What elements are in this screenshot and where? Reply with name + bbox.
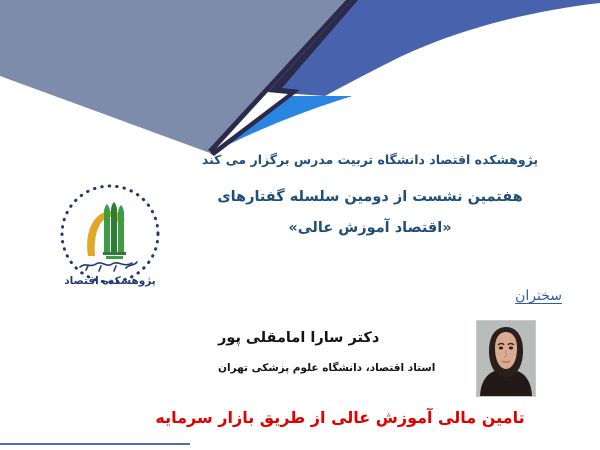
slate-polygon — [0, 0, 352, 153]
royal-blue-polygon — [268, 0, 600, 96]
headline-block: پژوهشکده اقتصاد دانشگاه تربیت مدرس برگزا… — [160, 152, 580, 239]
institute-logo: پژوهشکده اقتصاد — [44, 182, 176, 292]
bright-blue-sliver — [210, 96, 352, 153]
bottom-accent-rule — [0, 443, 190, 445]
logo-university-script — [80, 262, 137, 271]
event-poster: پژوهشکده اقتصاد پژوهشکده اقتصاد دانشگاه … — [0, 0, 600, 450]
speaker-name: دکتر سارا امامقلی پور — [218, 330, 528, 346]
navy-edge-line — [208, 0, 352, 153]
logo-institute-label: پژوهشکده اقتصاد — [64, 275, 155, 287]
organizer-line: پژوهشکده اقتصاد دانشگاه تربیت مدرس برگزا… — [160, 152, 580, 168]
decorative-header-banner — [0, 0, 600, 165]
session-line: هفتمین نشست از دومین سلسله گفتارهای — [160, 188, 580, 208]
speaker-affiliation: استاد اقتصاد، دانشگاه علوم پزشکی تهران — [218, 362, 528, 374]
speaker-section-label: سخنران — [515, 288, 562, 304]
talk-title: تامین مالی آموزش عالی از طریق بازار سرما… — [100, 408, 580, 427]
logo-wheat-stalks — [103, 202, 126, 259]
navy-sliver — [210, 0, 358, 156]
bright-blue-wedge — [212, 96, 352, 153]
series-title-line: «اقتصاد آموزش عالی» — [160, 219, 580, 239]
logo-seal-icon: پژوهشکده اقتصاد — [44, 182, 176, 292]
